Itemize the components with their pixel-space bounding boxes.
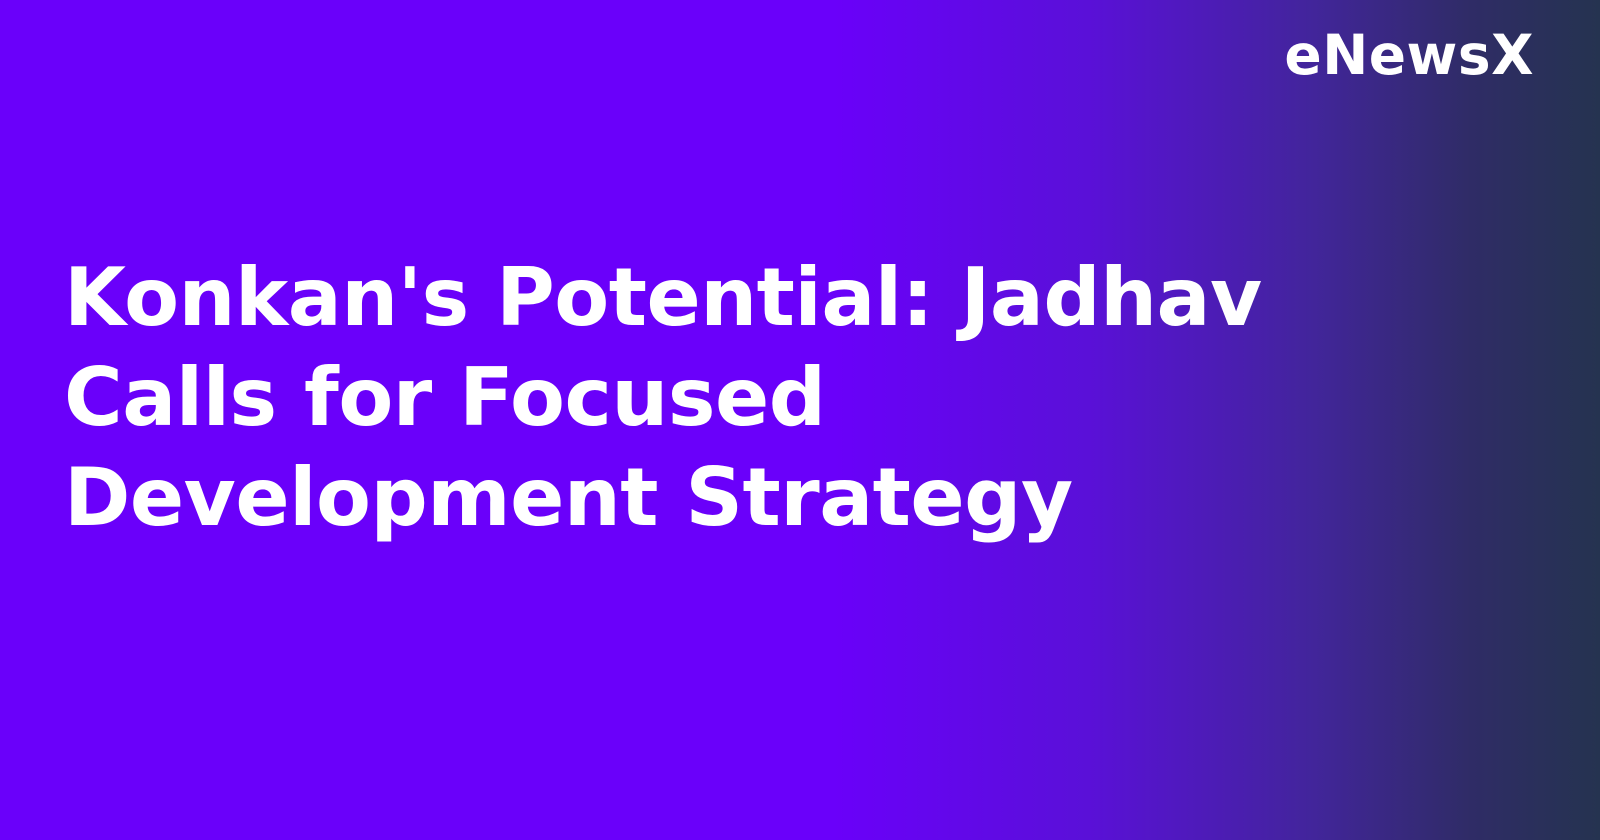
- brand-logo[interactable]: eNewsX: [1284, 28, 1534, 83]
- news-banner-card: eNewsX Konkan's Potential: Jadhav Calls …: [0, 0, 1600, 840]
- headline-line-3: Development Strategy: [64, 448, 1394, 548]
- brand-wordmark-text: eNewsX: [1284, 28, 1534, 83]
- headline-block: Konkan's Potential: Jadhav Calls for Foc…: [64, 248, 1394, 548]
- headline-line-1: Konkan's Potential: Jadhav: [64, 248, 1394, 348]
- page-title: Konkan's Potential: Jadhav Calls for Foc…: [64, 248, 1394, 548]
- headline-line-2: Calls for Focused: [64, 348, 1394, 448]
